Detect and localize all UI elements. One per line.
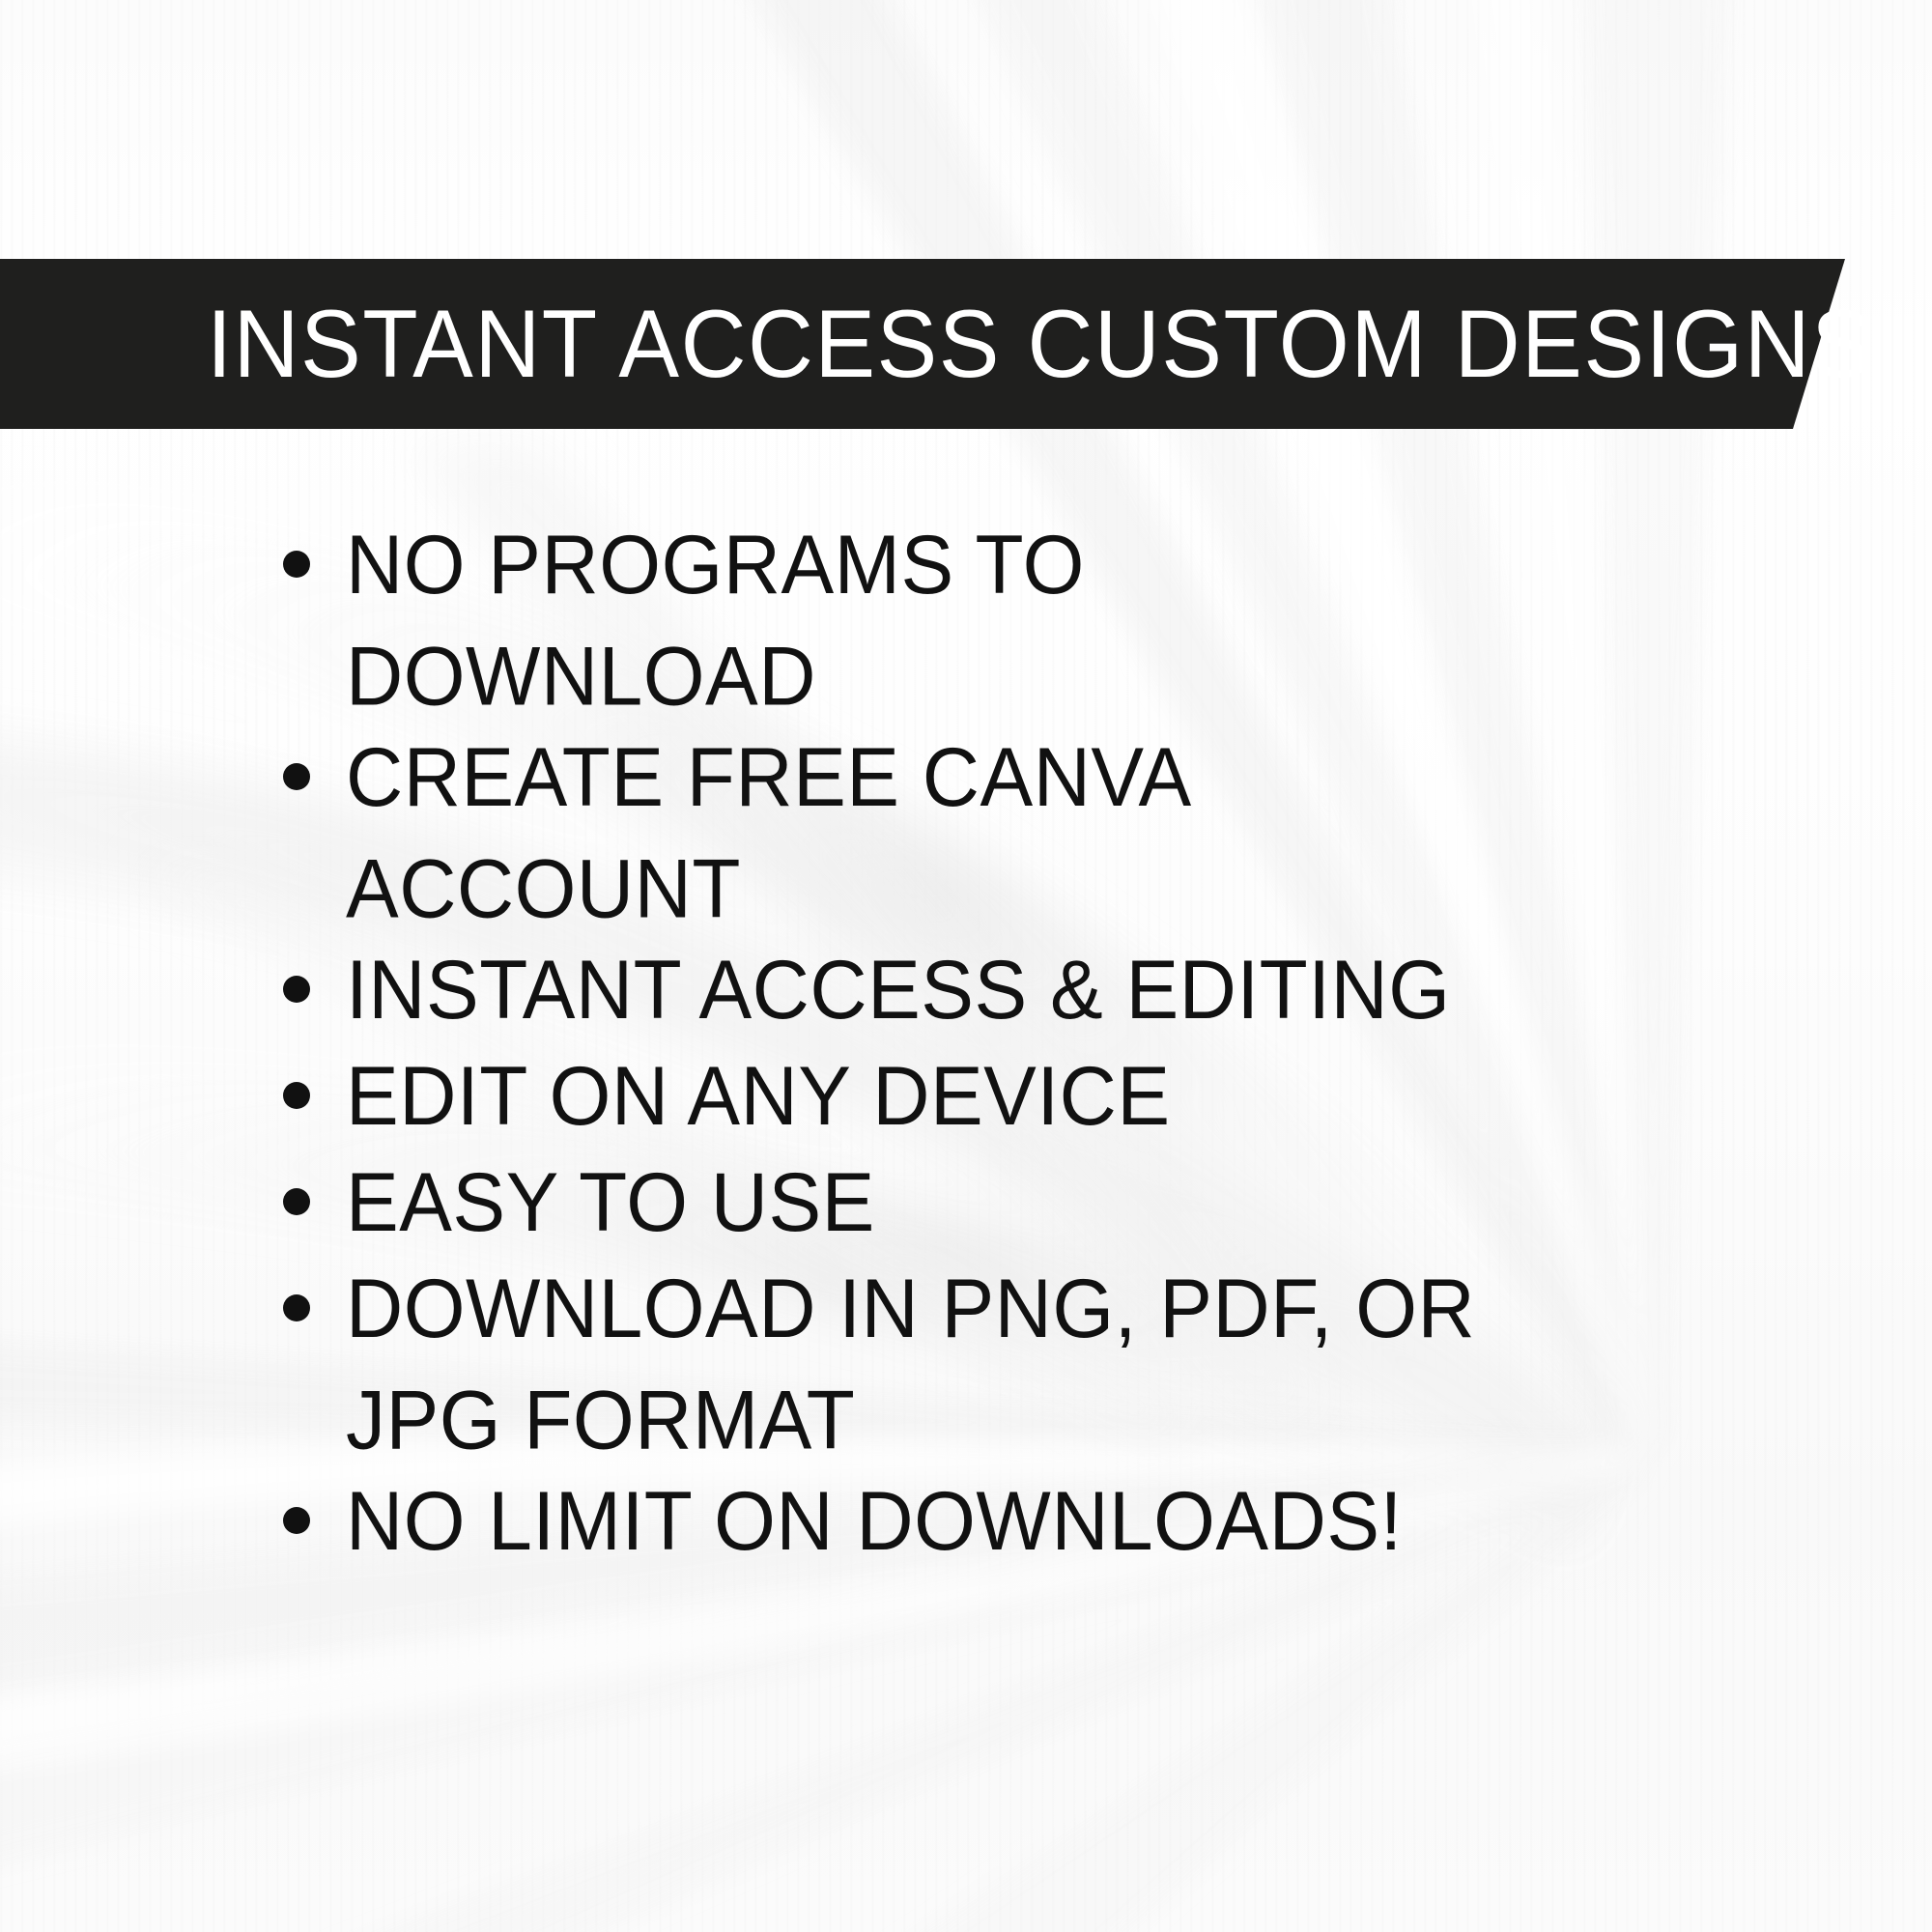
list-item-label: INSTANT ACCESS & EDITING: [346, 935, 1553, 1047]
banner: INSTANT ACCESS CUSTOM DESIGNS: [0, 259, 1847, 429]
list-item-label: EDIT ON ANY DEVICE: [346, 1041, 1553, 1153]
list-item-label: NO LIMIT ON DOWNLOADS!: [346, 1466, 1553, 1578]
list-item: EASY TO USE: [0, 1148, 1932, 1254]
bullet-dot-icon: [283, 1082, 310, 1109]
promo-graphic-canvas: INSTANT ACCESS CUSTOM DESIGNS NO PROGRAM…: [0, 0, 1932, 1932]
list-item: INSTANT ACCESS & EDITING: [0, 935, 1932, 1041]
list-item: CREATE FREE CANVA ACCOUNT: [0, 723, 1932, 935]
list-item-label: NO PROGRAMS TO DOWNLOAD: [346, 510, 1553, 733]
bullet-dot-icon: [283, 1294, 310, 1321]
bullet-dot-icon: [283, 1507, 310, 1534]
banner-title: INSTANT ACCESS CUSTOM DESIGNS: [207, 254, 1873, 435]
list-item-label: EASY TO USE: [346, 1148, 1553, 1260]
bullet-dot-icon: [283, 763, 310, 790]
list-item: DOWNLOAD IN PNG, PDF, OR JPG FORMAT: [0, 1254, 1932, 1466]
list-item: NO PROGRAMS TO DOWNLOAD: [0, 510, 1932, 723]
bullet-dot-icon: [283, 976, 310, 1003]
list-item-label: CREATE FREE CANVA ACCOUNT: [346, 723, 1553, 946]
list-item: NO LIMIT ON DOWNLOADS!: [0, 1466, 1932, 1573]
list-item: EDIT ON ANY DEVICE: [0, 1041, 1932, 1148]
bullet-dot-icon: [283, 1188, 310, 1215]
list-item-label: DOWNLOAD IN PNG, PDF, OR JPG FORMAT: [346, 1254, 1553, 1477]
feature-list: NO PROGRAMS TO DOWNLOAD CREATE FREE CANV…: [0, 510, 1932, 1573]
bullet-dot-icon: [283, 551, 310, 578]
